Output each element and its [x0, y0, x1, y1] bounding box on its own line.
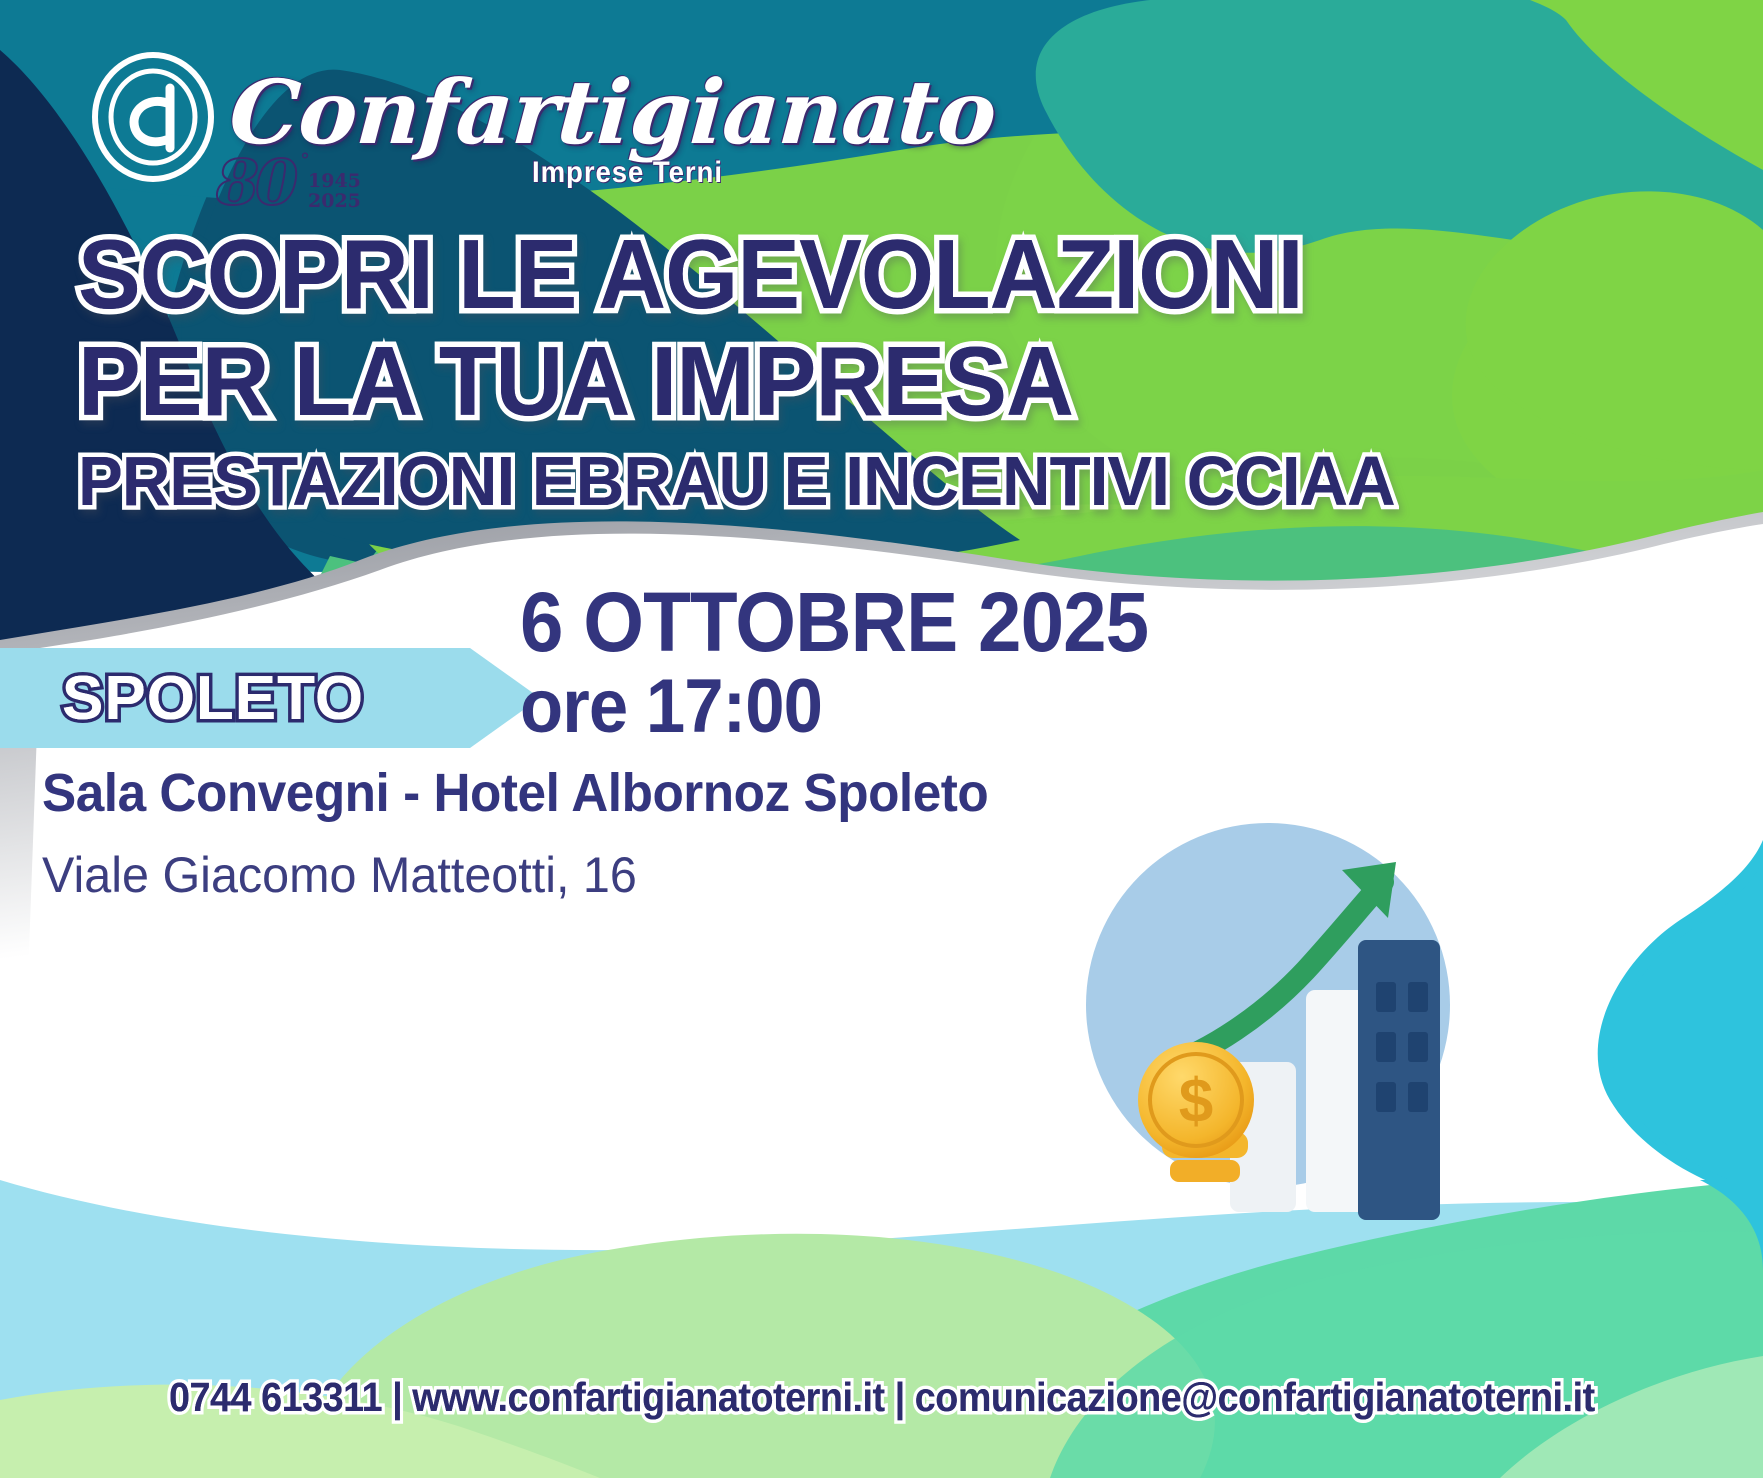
event-venue-block: Sala Convegni - Hotel Albornoz Spoleto V… — [42, 762, 1038, 904]
city-badge-label: SPOLETO — [62, 648, 364, 748]
anniversary-year-from: 1945 — [308, 172, 361, 192]
anniversary-year-to: 2025 — [308, 192, 361, 212]
anniversary-number: 80 — [216, 146, 294, 219]
city-badge: SPOLETOSPOLETO — [0, 648, 540, 748]
logo-subtitle: Imprese Terni — [532, 156, 723, 190]
event-flyer: Confartigianato Imprese Terni 80 ° 1945 … — [0, 0, 1763, 1478]
headline-line-2-wrap: PER LA TUA IMPRESA PER LA TUA IMPRESA — [78, 335, 1498, 428]
headline-line-1-wrap: SCOPRI LE AGEVOLAZIONI SCOPRI LE AGEVOLA… — [78, 228, 1498, 321]
event-address: Viale Giacomo Matteotti, 16 — [42, 846, 1008, 904]
anniversary-years: 1945 2025 — [308, 172, 361, 212]
anniversary-badge: 80 ° 1945 2025 — [216, 146, 386, 236]
footer-contact-line[interactable]: 0744 613311 | www.confartigianatoterni.i… — [169, 1374, 1595, 1421]
coin-dollar-symbol: $ — [1179, 1067, 1213, 1136]
headline-block: SCOPRI LE AGEVOLAZIONI SCOPRI LE AGEVOLA… — [78, 228, 1498, 515]
business-growth-chart-icon: $ — [1058, 800, 1498, 1230]
footer-contact-stroke: 0744 613311 | www.confartigianatoterni.i… — [169, 1374, 1595, 1421]
headline-line-2: PER LA TUA IMPRESA — [78, 335, 1073, 428]
headline-line-3-wrap: PRESTAZIONI EBRAU E INCENTIVI CCIAA PRES… — [78, 448, 1498, 515]
footer-contact-bar: 0744 613311 | www.confartigianatoterni.i… — [0, 1374, 1763, 1421]
headline-line-3: PRESTAZIONI EBRAU E INCENTIVI CCIAA — [78, 448, 1395, 515]
confartigianato-logo: Confartigianato Imprese Terni 80 ° 1945 … — [88, 52, 788, 212]
anniversary-degree: ° — [300, 148, 310, 172]
logo-monogram-icon — [88, 52, 218, 182]
event-venue: Sala Convegni - Hotel Albornoz Spoleto — [42, 762, 988, 824]
event-date: 6 OTTOBRE 2025 — [520, 580, 1148, 666]
headline-line-1: SCOPRI LE AGEVOLAZIONI — [78, 228, 1303, 321]
event-datetime: 6 OTTOBRE 2025 ore 17:00 — [520, 580, 1195, 745]
city-badge-label-stroke: SPOLETOSPOLETO — [62, 648, 364, 748]
event-time: ore 17:00 — [520, 668, 1148, 746]
